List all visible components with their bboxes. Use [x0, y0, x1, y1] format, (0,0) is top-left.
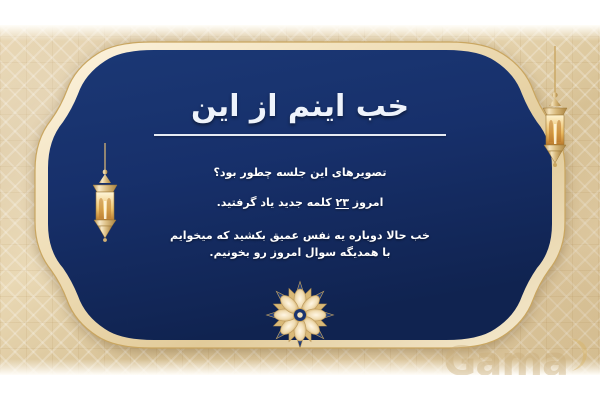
body-line-breathe-1: خب حالا دوباره یه نفس عمیق بکشید که میخو… — [115, 227, 485, 244]
word-count-suffix: کلمه جدید یاد گرفتید. — [217, 196, 336, 209]
background-fade-top — [0, 25, 600, 41]
edge-strip-top — [0, 0, 600, 25]
body-line-question: تصویرهای این جلسه چطور بود؟ — [115, 164, 485, 181]
hanging-lantern-left-icon — [86, 143, 124, 248]
hanging-lantern-right-icon — [535, 46, 575, 176]
watermark-swoosh-icon — [566, 334, 592, 374]
body-line-word-count: امروز ۲۳ کلمه جدید یاد گرفتید. — [115, 194, 485, 211]
eight-point-flower-rosette-icon — [258, 276, 342, 354]
body-text-block: تصویرهای این جلسه چطور بود؟ امروز ۲۳ کلم… — [115, 151, 485, 261]
slide-canvas: خب اینم از این تصویرهای این جلسه چطور بو… — [0, 0, 600, 400]
word-count-prefix: امروز — [349, 196, 383, 209]
title-divider — [154, 134, 446, 136]
edge-strip-bottom — [0, 375, 600, 400]
body-line-breathe-2: با همدیگه سوال امروز رو بخونیم. — [115, 244, 485, 261]
page-title: خب اینم از این — [191, 90, 409, 125]
word-count-number: ۲۳ — [336, 196, 349, 209]
